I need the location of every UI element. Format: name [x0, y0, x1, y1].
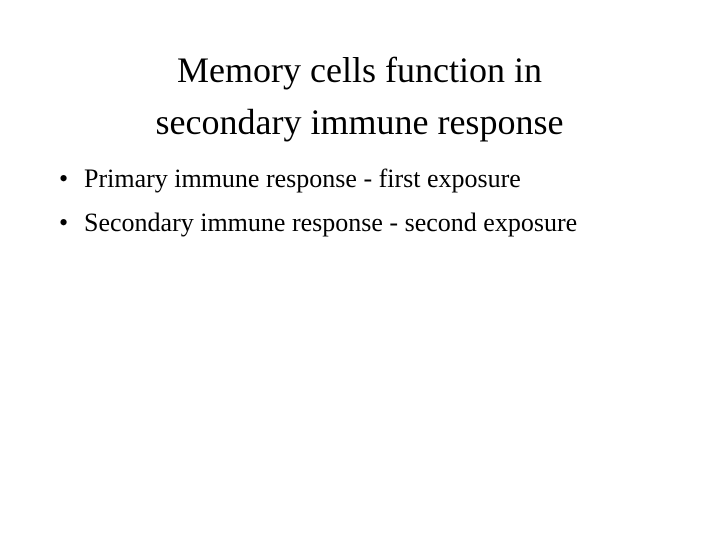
list-item: • Primary immune response - first exposu…	[52, 157, 672, 201]
page-title: Memory cells function in secondary immun…	[0, 44, 719, 148]
bullet-dot-icon: •	[59, 157, 77, 201]
page-title-line-2: secondary immune response	[0, 96, 719, 148]
slide-canvas: Memory cells function in secondary immun…	[0, 0, 719, 539]
bullet-dot-icon: •	[59, 201, 77, 245]
list-item-text: Secondary immune response - second expos…	[84, 201, 672, 245]
list-item-text: Primary immune response - first exposure	[84, 157, 672, 201]
slide-body-content: • Primary immune response - first exposu…	[52, 157, 672, 245]
page-title-line-1: Memory cells function in	[0, 44, 719, 96]
list-item: • Secondary immune response - second exp…	[52, 201, 672, 245]
